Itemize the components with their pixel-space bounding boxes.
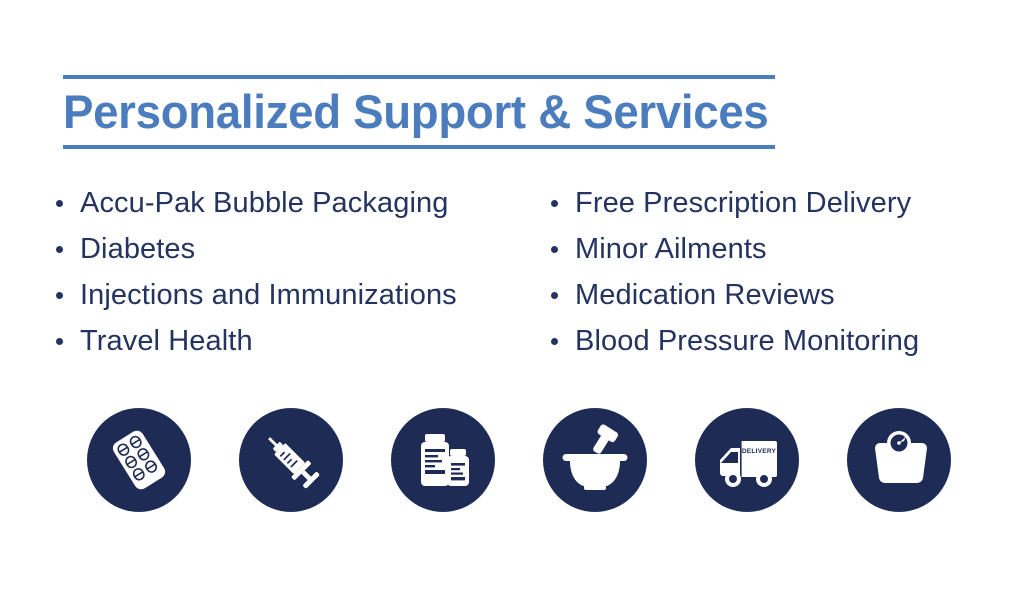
weight-scale-icon: [864, 425, 934, 495]
icon-badge-weight-scale: [847, 408, 951, 512]
list-item: Diabetes: [50, 226, 545, 272]
service-label: Blood Pressure Monitoring: [575, 325, 919, 357]
service-label: Injections and Immunizations: [80, 279, 457, 311]
services-column-right: Free Prescription Delivery Minor Ailment…: [545, 180, 980, 364]
icon-badge-pill-bottles: [391, 408, 495, 512]
delivery-van-icon: DELIVERY: [709, 422, 785, 498]
service-icon-row: DELIVERY: [87, 408, 951, 512]
bullet-dot-icon: [56, 292, 63, 299]
mortar-and-pestle-icon: [558, 423, 632, 497]
blister-pack-icon: [104, 425, 174, 495]
bullet-dot-icon: [551, 246, 558, 253]
list-item: Blood Pressure Monitoring: [545, 318, 980, 364]
service-label: Free Prescription Delivery: [575, 187, 911, 219]
bullet-dot-icon: [56, 200, 63, 207]
list-item: Minor Ailments: [545, 226, 980, 272]
icon-badge-syringe: [239, 408, 343, 512]
service-label: Medication Reviews: [575, 279, 835, 311]
list-item: Injections and Immunizations: [50, 272, 545, 318]
list-item: Free Prescription Delivery: [545, 180, 980, 226]
icon-badge-mortar-and-pestle: [543, 408, 647, 512]
bullet-dot-icon: [56, 338, 63, 345]
icon-badge-blister-pack: [87, 408, 191, 512]
services-lists: Accu-Pak Bubble Packaging Diabetes Injec…: [50, 180, 980, 364]
service-label: Accu-Pak Bubble Packaging: [80, 187, 448, 219]
services-list-left: Accu-Pak Bubble Packaging Diabetes Injec…: [50, 180, 545, 364]
pill-bottles-icon: [408, 425, 478, 495]
service-label: Travel Health: [80, 325, 253, 357]
syringe-icon: [256, 425, 326, 495]
slide-canvas: Personalized Support & Services Accu-Pak…: [0, 0, 1025, 590]
list-item: Travel Health: [50, 318, 545, 364]
heading-block: Personalized Support & Services: [63, 75, 775, 149]
heading-rule-bottom: [63, 145, 775, 149]
service-label: Minor Ailments: [575, 233, 767, 265]
bullet-dot-icon: [56, 246, 63, 253]
services-list-right: Free Prescription Delivery Minor Ailment…: [545, 180, 980, 364]
list-item: Accu-Pak Bubble Packaging: [50, 180, 545, 226]
bullet-dot-icon: [551, 292, 558, 299]
page-title: Personalized Support & Services: [63, 79, 754, 145]
services-column-left: Accu-Pak Bubble Packaging Diabetes Injec…: [50, 180, 545, 364]
van-delivery-text: DELIVERY: [742, 448, 777, 455]
list-item: Medication Reviews: [545, 272, 980, 318]
service-label: Diabetes: [80, 233, 195, 265]
icon-badge-delivery-van: DELIVERY: [695, 408, 799, 512]
bullet-dot-icon: [551, 200, 558, 207]
bullet-dot-icon: [551, 338, 558, 345]
